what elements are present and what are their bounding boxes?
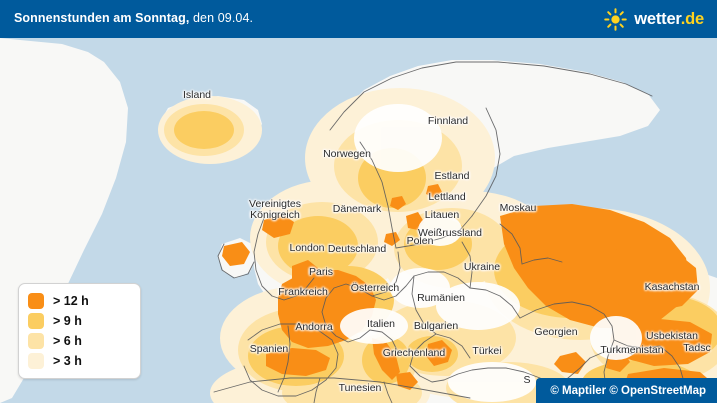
legend-swatch-3h [28,353,44,369]
page-title-date: den 09.04. [189,11,253,25]
legend-label-9h: > 9 h [53,314,82,328]
page-title: Sonnenstunden am Sonntag, den 09.04. [14,11,253,25]
legend-panel: > 12 h > 9 h > 6 h > 3 h [18,283,141,379]
attribution-text: © Maptiler © OpenStreetMap [550,385,706,397]
legend-label-3h: > 3 h [53,354,82,368]
legend-row[interactable]: > 12 h [28,291,132,311]
legend-row[interactable]: > 9 h [28,311,132,331]
sunshine-hours-map-widget: Sonnenstunden am Sonntag, den 09.04. [0,0,717,403]
legend-swatch-9h [28,313,44,329]
page-title-bold: Sonnenstunden am Sonntag, [14,11,189,25]
legend-label-12h: > 12 h [53,294,89,308]
map-attribution[interactable]: © Maptiler © OpenStreetMap [536,378,717,403]
legend-row[interactable]: > 3 h [28,351,132,371]
brand-name-text: wetter [634,10,681,28]
header-bar: Sonnenstunden am Sonntag, den 09.04. [0,0,717,38]
legend-label-6h: > 6 h [53,334,82,348]
sun-icon [604,8,627,31]
legend-swatch-6h [28,333,44,349]
legend-row[interactable]: > 6 h [28,331,132,351]
brand-tld: .de [681,10,704,28]
brand-logo[interactable]: wetter.de [604,7,704,31]
brand-name: wetter.de [634,10,704,29]
legend-swatch-12h [28,293,44,309]
